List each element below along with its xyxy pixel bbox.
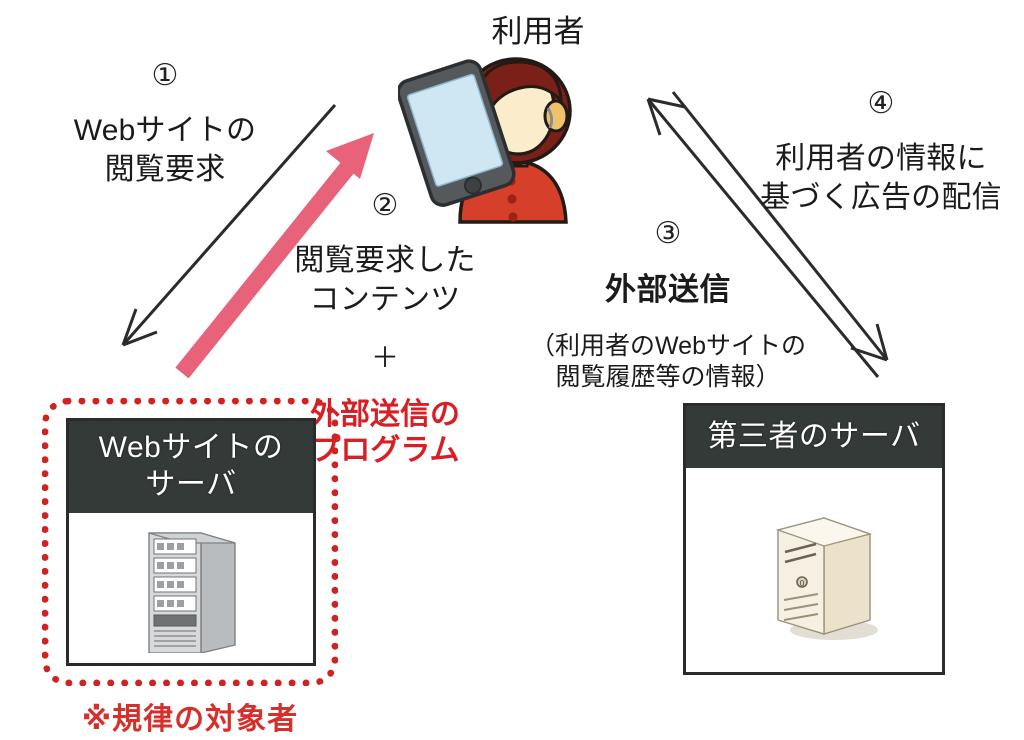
third-party-server-header-label: 第三者のサーバ [686,406,942,468]
step-1-number: ① [40,60,290,92]
step-4-number: ④ [738,88,1024,120]
third-party-server-card[interactable]: 第三者のサーバ [683,403,945,675]
regulated-note-label: ※規律の対象者 [42,694,338,738]
step-3-headline: 外部送信 [518,270,818,310]
website-server-header-label: Webサイトの サーバ [69,421,313,513]
label-step-4: ④ 利用者の情報に 基づく広告の配信 [738,68,1024,238]
website-server-card[interactable]: Webサイトの サーバ [66,418,316,666]
svg-text:0: 0 [799,579,804,588]
step-2-plus: ＋ [272,340,498,376]
step-3-text: （利用者のWebサイトの 閲覧履歴等の情報） [518,331,818,394]
website-server-body [69,513,313,663]
label-step-1: ① Webサイトの 閲覧要求 [40,40,290,210]
step-4-text: 利用者の情報に 基づく広告の配信 [738,140,1024,217]
step-1-text: Webサイトの 閲覧要求 [40,112,290,189]
rack-server-icon [137,527,249,653]
step-2-text: 閲覧要求した コンテンツ [272,242,498,319]
step-2-number: ② [272,190,498,222]
third-party-server-body: 0 [686,468,942,672]
diagram-canvas: 利用者 [0,0,1024,740]
tower-server-icon: 0 [758,494,884,644]
